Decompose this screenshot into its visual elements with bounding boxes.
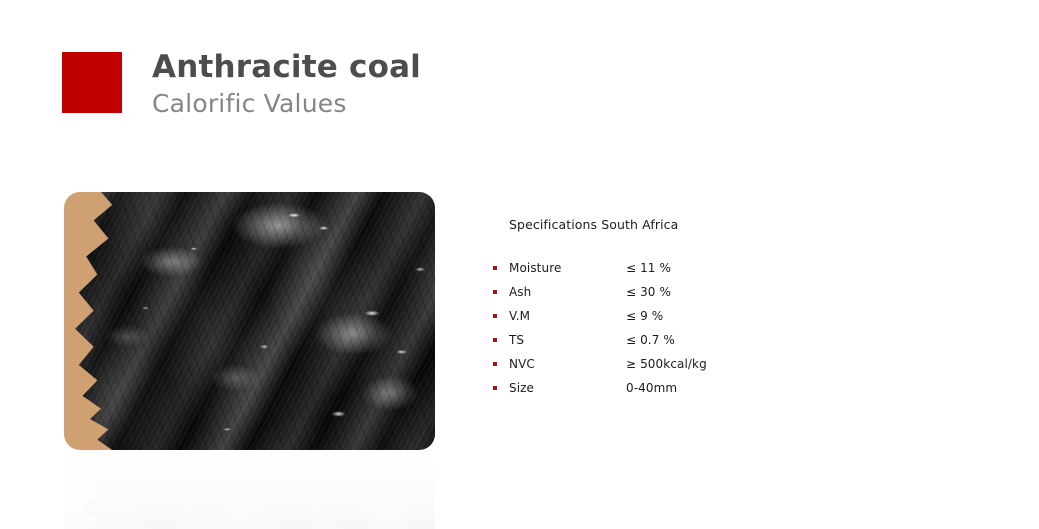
coal-photo-reflection	[64, 452, 435, 529]
spec-row: V.M ≤ 9 %	[493, 304, 813, 328]
coal-photo-reflection-inner	[64, 452, 435, 529]
coal-photo-reflection-frame	[64, 452, 435, 529]
spec-row: TS ≤ 0.7 %	[493, 328, 813, 352]
slide-header: Anthracite coal Calorific Values	[0, 0, 1039, 140]
coal-photo	[64, 192, 435, 450]
coal-mineral-reflection-flecks	[64, 452, 435, 529]
spec-value: ≤ 9 %	[626, 304, 663, 328]
spec-value: ≤ 11 %	[626, 256, 671, 280]
bullet-square-icon	[493, 386, 497, 390]
coal-photo-reflection-background	[64, 452, 435, 529]
spec-value: ≥ 500kcal/kg	[626, 352, 707, 376]
page-title: Anthracite coal	[152, 48, 421, 86]
coal-photo-frame	[64, 192, 435, 450]
page-subtitle: Calorific Values	[152, 88, 347, 120]
spec-row: Size 0-40mm	[493, 376, 813, 400]
coal-texture-reflection-grain	[64, 452, 435, 529]
specifications-heading: Specifications South Africa	[509, 217, 678, 232]
coal-lump-shape	[64, 192, 435, 450]
bullet-square-icon	[493, 266, 497, 270]
spec-label: Moisture	[509, 256, 561, 280]
bullet-square-icon	[493, 290, 497, 294]
spec-value: ≤ 30 %	[626, 280, 671, 304]
specifications-list: Moisture ≤ 11 % Ash ≤ 30 % V.M ≤ 9 % TS …	[493, 256, 813, 400]
spec-row: Moisture ≤ 11 %	[493, 256, 813, 280]
coal-lump-reflection-shape	[64, 452, 435, 529]
spec-label: V.M	[509, 304, 530, 328]
spec-row: NVC ≥ 500kcal/kg	[493, 352, 813, 376]
spec-label: Size	[509, 376, 534, 400]
spec-value: 0-40mm	[626, 376, 677, 400]
spec-label: NVC	[509, 352, 535, 376]
bullet-square-icon	[493, 338, 497, 342]
brand-mark-square	[62, 52, 122, 113]
spec-label: TS	[509, 328, 524, 352]
spec-value: ≤ 0.7 %	[626, 328, 675, 352]
spec-row: Ash ≤ 30 %	[493, 280, 813, 304]
bullet-square-icon	[493, 362, 497, 366]
bullet-square-icon	[493, 314, 497, 318]
spec-label: Ash	[509, 280, 531, 304]
